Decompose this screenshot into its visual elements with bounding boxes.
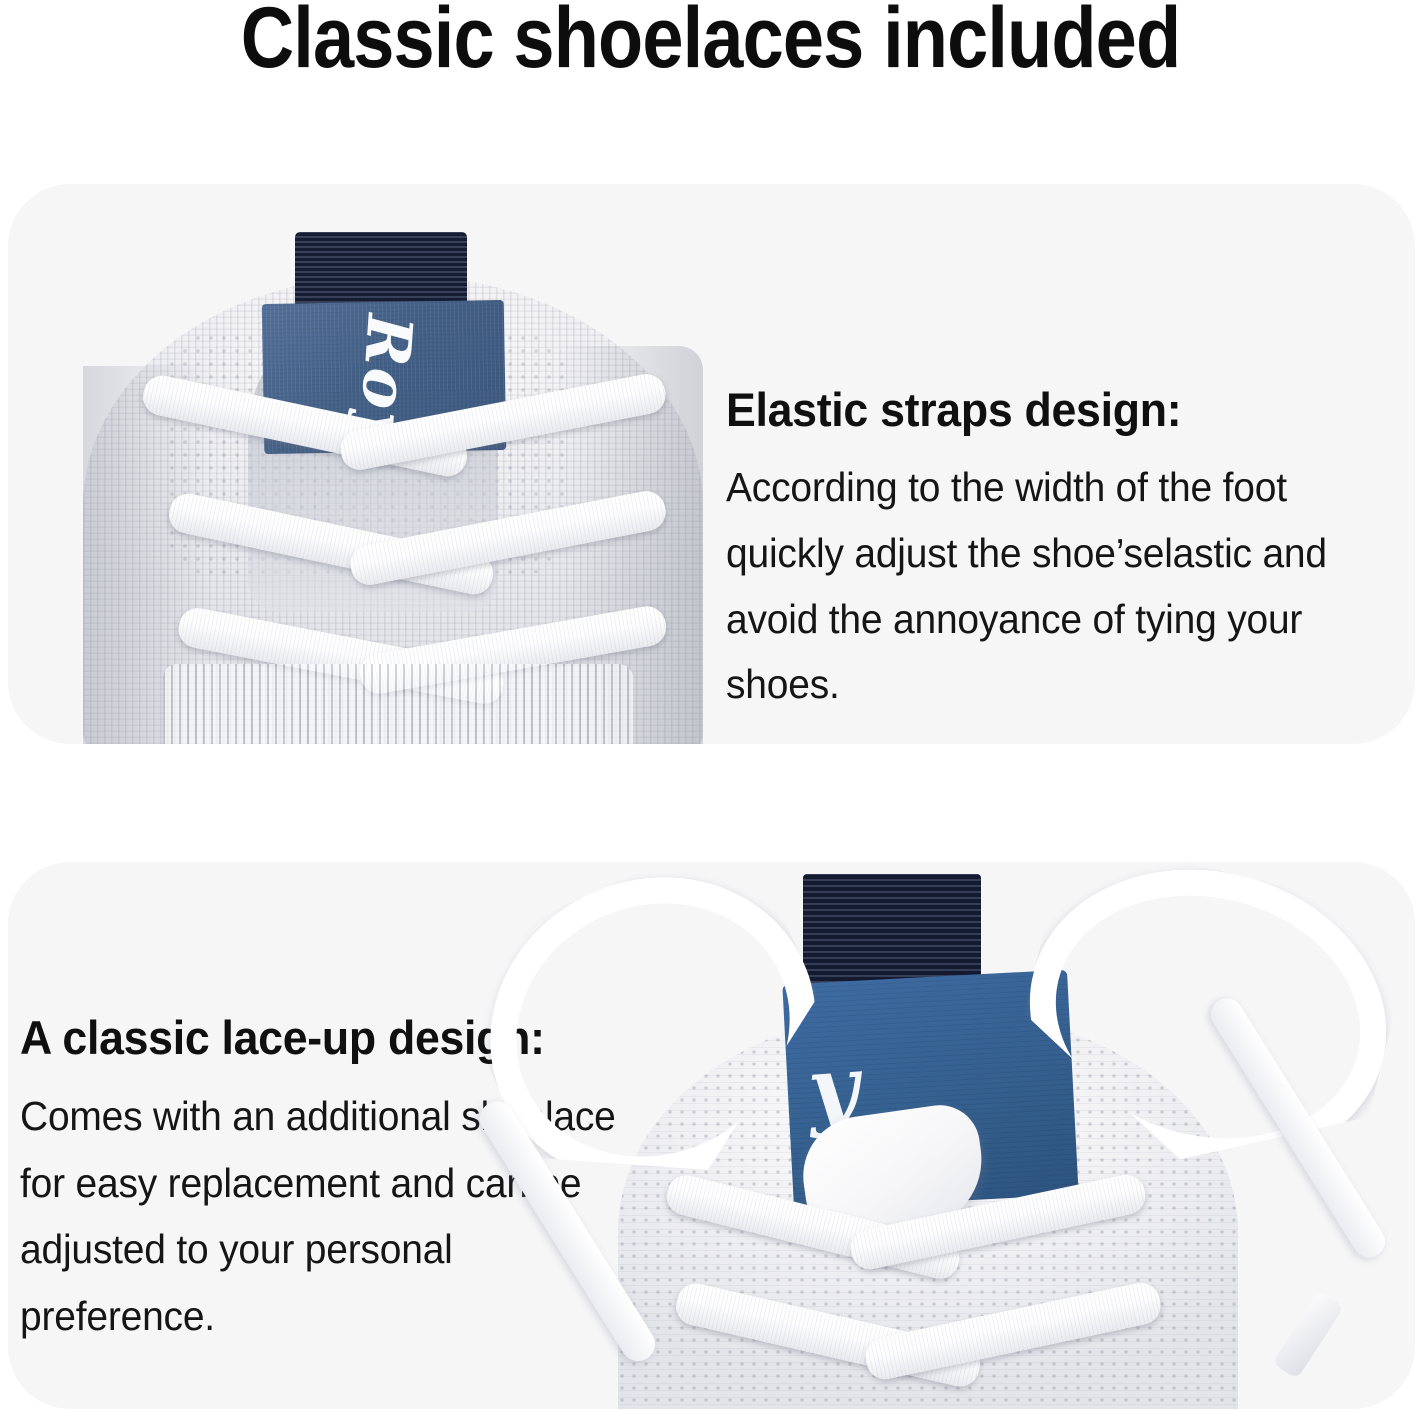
navy-pull-tab xyxy=(803,874,981,989)
page-title: Classic shoelaces included xyxy=(99,0,1321,85)
infographic-page: Classic shoelaces included Roy Elastic s… xyxy=(0,0,1421,1409)
knit-collar-rib xyxy=(163,664,633,744)
classic-lace-up-photo: y xyxy=(448,862,1415,1409)
feature-heading: Elastic straps design: xyxy=(726,382,1391,437)
elastic-straps-photo: Roy xyxy=(48,184,718,744)
feature-panel-classic-lace-up: A classic lace-up design: Comes with an … xyxy=(8,862,1415,1409)
shoelace-aglet xyxy=(1272,1291,1344,1379)
feature-panel-elastic-straps: Roy Elastic straps design: According to … xyxy=(8,184,1415,744)
elastic-straps-text: Elastic straps design: According to the … xyxy=(726,382,1415,718)
feature-body: According to the width of the foot quick… xyxy=(726,455,1391,717)
